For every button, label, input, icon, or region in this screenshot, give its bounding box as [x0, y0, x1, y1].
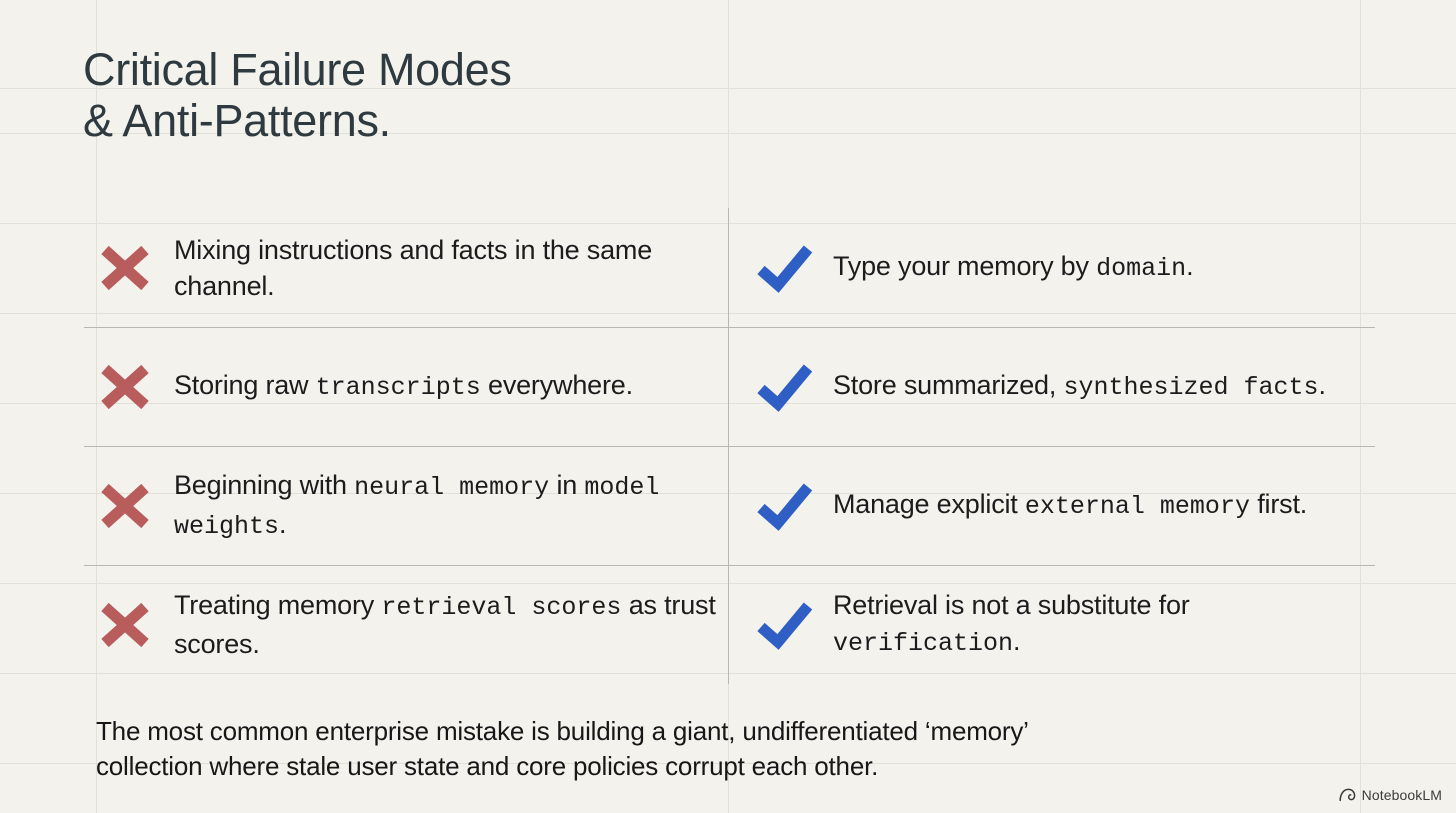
table-row: Storing raw transcripts everywhere. Stor… — [0, 327, 1456, 446]
table-row: Mixing instructions and facts in the sam… — [0, 208, 1456, 327]
best-practice-text: Type your memory by domain. — [833, 248, 1193, 287]
page-title: Critical Failure Modes & Anti-Patterns. — [83, 44, 783, 146]
table-row: Beginning with neural memory in model we… — [0, 446, 1456, 565]
best-practice-text: Store summarized, synthesized facts. — [833, 367, 1326, 406]
anti-pattern-text: Beginning with neural memory in model we… — [174, 467, 728, 545]
footer-note: The most common enterprise mistake is bu… — [96, 714, 1296, 784]
slide-canvas: Critical Failure Modes & Anti-Patterns. … — [0, 0, 1456, 813]
anti-pattern-cell: Beginning with neural memory in model we… — [84, 446, 728, 565]
anti-pattern-text: Treating memory retrieval scores as trus… — [174, 587, 728, 662]
notebooklm-label: NotebookLM — [1362, 787, 1442, 803]
anti-pattern-text: Storing raw transcripts everywhere. — [174, 367, 633, 406]
best-practice-cell: Store summarized, synthesized facts. — [729, 327, 1375, 446]
table-row: Treating memory retrieval scores as trus… — [0, 565, 1456, 684]
anti-pattern-cell: Treating memory retrieval scores as trus… — [84, 565, 728, 684]
best-practice-cell: Type your memory by domain. — [729, 208, 1375, 327]
notebooklm-logo-icon — [1339, 788, 1356, 802]
cross-icon — [94, 475, 156, 537]
best-practice-cell: Manage explicit external memory first. — [729, 446, 1375, 565]
best-practice-text: Manage explicit external memory first. — [833, 486, 1307, 525]
check-icon — [753, 475, 815, 537]
check-icon — [753, 356, 815, 418]
notebooklm-watermark: NotebookLM — [1339, 787, 1442, 803]
cross-icon — [94, 356, 156, 418]
cross-icon — [94, 237, 156, 299]
best-practice-cell: Retrieval is not a substitute for verifi… — [729, 565, 1375, 684]
cross-icon — [94, 594, 156, 656]
anti-pattern-cell: Storing raw transcripts everywhere. — [84, 327, 728, 446]
check-icon — [753, 237, 815, 299]
best-practice-text: Retrieval is not a substitute for verifi… — [833, 587, 1375, 662]
failure-modes-table: Mixing instructions and facts in the sam… — [0, 208, 1456, 684]
check-icon — [753, 594, 815, 656]
anti-pattern-text: Mixing instructions and facts in the sam… — [174, 232, 728, 304]
anti-pattern-cell: Mixing instructions and facts in the sam… — [84, 208, 728, 327]
